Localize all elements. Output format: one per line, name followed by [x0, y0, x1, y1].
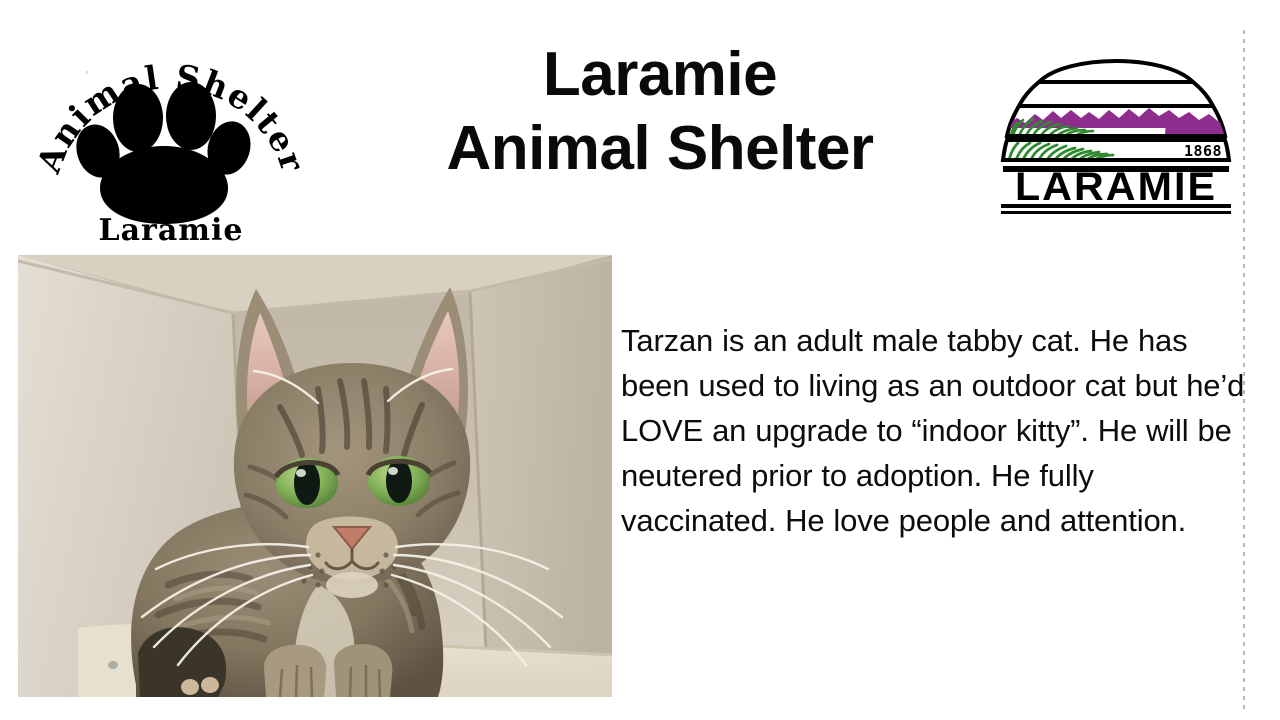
- textbox-boundary-guide: [1243, 30, 1245, 710]
- cat-chin: [326, 572, 378, 598]
- paw-toe-2: [166, 82, 216, 150]
- photo-wall-right: [470, 255, 612, 697]
- city-logo-rule-mid: [1001, 204, 1231, 208]
- logo-speck: [86, 71, 88, 74]
- city-logo-base-band: 1868: [1003, 140, 1229, 160]
- city-of-laramie-logo: 1868 LARAMIE: [997, 48, 1235, 216]
- city-logo-founded-year: 1868: [1184, 142, 1222, 160]
- animal-shelter-logo: Animal Shelter Laramie: [36, 28, 306, 243]
- city-logo-scene-band: [1005, 106, 1227, 136]
- city-logo-dome-cap: [1039, 61, 1193, 82]
- pet-description-text: Tarzan is an adult male tabby cat. He ha…: [621, 318, 1245, 543]
- title-line-2: Animal Shelter: [330, 112, 990, 186]
- city-logo-rule-bottom: [1001, 211, 1231, 214]
- cat-eye-left: [276, 458, 338, 508]
- shelter-logo-bottom-text: Laramie: [98, 213, 243, 243]
- paw-toe-1: [113, 84, 163, 152]
- page-title: Laramie Animal Shelter: [330, 38, 990, 186]
- cat-eye-right: [368, 456, 430, 506]
- city-logo-wordmark: LARAMIE: [1015, 164, 1217, 209]
- cat-photo: [18, 255, 612, 697]
- slide-canvas: Animal Shelter Laramie Laramie Animal Sh…: [0, 0, 1280, 720]
- city-logo-band-2: [1019, 82, 1213, 106]
- title-line-1: Laramie: [330, 38, 990, 112]
- pet-description: Tarzan is an adult male tabby cat. He ha…: [621, 318, 1245, 543]
- photo-shelf-screw: [108, 661, 118, 669]
